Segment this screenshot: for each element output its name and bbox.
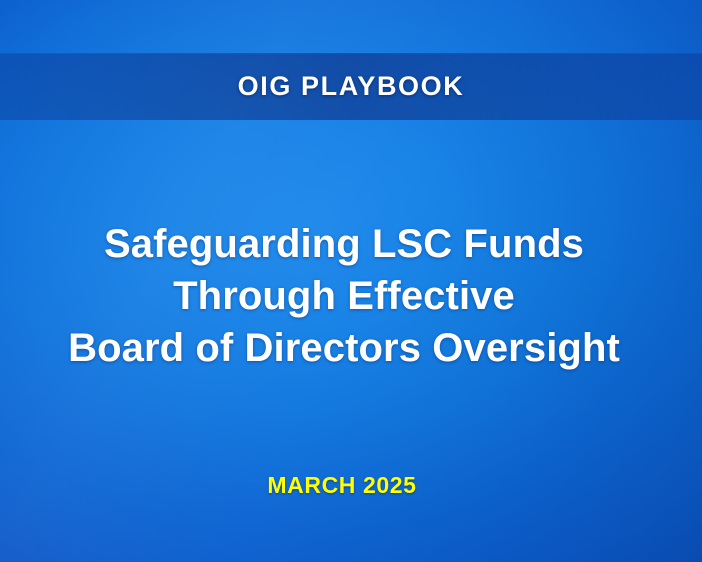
title-slide: OIG PLAYBOOK Safeguarding LSC Funds Thro… — [0, 0, 702, 562]
title-line-1: Safeguarding LSC Funds — [0, 218, 688, 270]
header-title: OIG PLAYBOOK — [238, 73, 465, 100]
title-line-3: Board of Directors Oversight — [0, 322, 688, 374]
slide-date: MARCH 2025 — [0, 474, 684, 497]
slide-title: Safeguarding LSC Funds Through Effective… — [0, 218, 688, 374]
header-band: OIG PLAYBOOK — [0, 53, 702, 120]
date-text: MARCH 2025 — [0, 474, 684, 497]
title-line-2: Through Effective — [0, 270, 688, 322]
